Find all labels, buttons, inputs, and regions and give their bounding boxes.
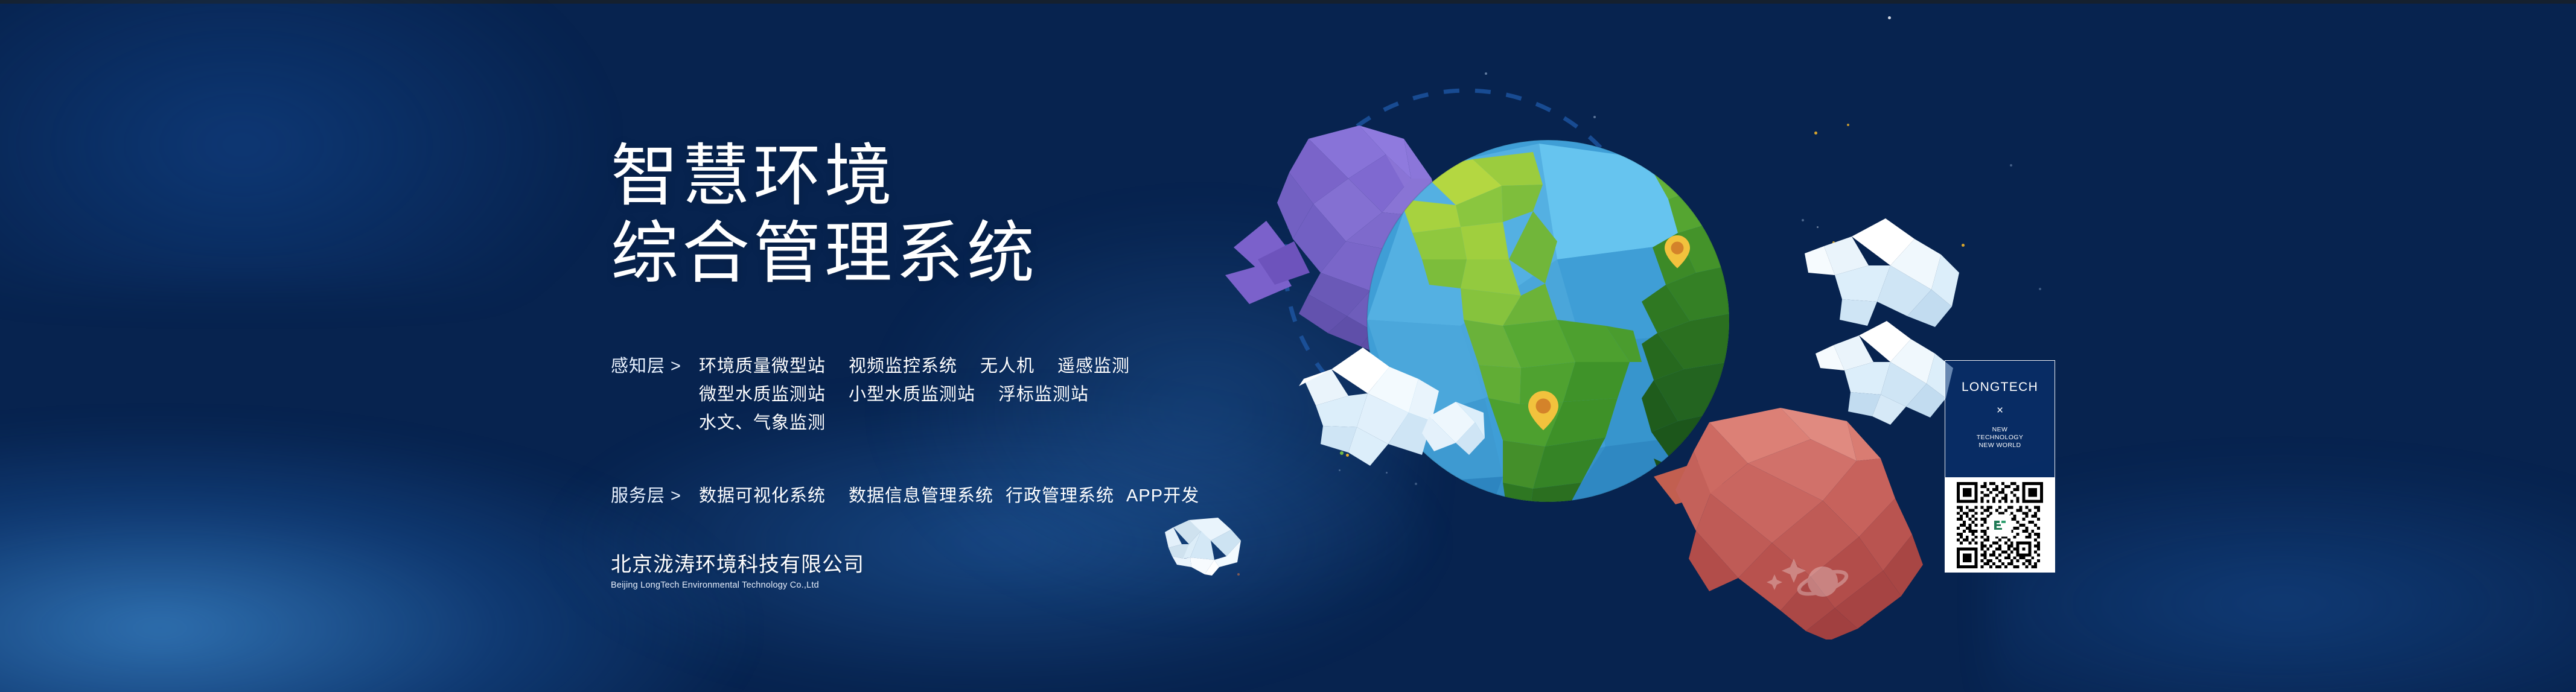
hero-copy: 智慧环境 综合管理系统 感知层 > 环境质量微型站 视频监控系统 无人机 遥感监… [611, 138, 1758, 510]
layer-list: 感知层 > 环境质量微型站 视频监控系统 无人机 遥感监测 微型水质监测站 小型… [611, 352, 1758, 510]
layer-label: 服务层 > [611, 482, 699, 510]
hero-banner: 智慧环境 综合管理系统 感知层 > 环境质量微型站 视频监控系统 无人机 遥感监… [0, 0, 2576, 692]
layer-item[interactable]: APP开发 [1126, 482, 1199, 510]
page-title-line-1: 智慧环境 [611, 138, 1758, 215]
background-haze-top [0, 0, 604, 290]
qr-center-logo [1990, 515, 2010, 536]
qr-promo-card[interactable]: LONGTECH × NEW TECHNOLOGY NEW WORLD [1945, 360, 2055, 573]
cloud-cluster-right-upper [1805, 218, 1959, 327]
company-signature: 北京泷涛环境科技有限公司 Beijing LongTech Environmen… [611, 552, 864, 591]
cloud-cluster-right-lower [1816, 321, 1953, 425]
tagline-line: NEW WORLD [1977, 442, 2024, 449]
tagline-line: NEW [1977, 426, 2024, 434]
tagline-line: TECHNOLOGY [1977, 434, 2024, 442]
qr-code-area[interactable] [1945, 478, 2055, 573]
layer-row-service: 服务层 > 数据可视化系统 数据信息管理系统 行政管理系统 APP开发 [611, 482, 1758, 510]
layer-item-line: 水文、气象监测 [699, 409, 1130, 437]
company-name-cn: 北京泷涛环境科技有限公司 [611, 552, 864, 577]
layer-item[interactable]: 数据信息管理系统 [849, 482, 993, 510]
cloud-detached [1147, 507, 1267, 585]
brand-name: LONGTECH [1962, 380, 2038, 395]
layer-item[interactable]: 无人机 [980, 352, 1035, 381]
page-title-line-2: 综合管理系统 [611, 215, 1758, 292]
layer-item[interactable]: 水文、气象监测 [699, 409, 826, 437]
layer-items: 数据可视化系统 数据信息管理系统 行政管理系统 APP开发 [699, 482, 1211, 510]
top-strip [0, 0, 2576, 4]
layer-item[interactable]: 数据可视化系统 [699, 482, 826, 510]
layer-row-perception: 感知层 > 环境质量微型站 视频监控系统 无人机 遥感监测 微型水质监测站 小型… [611, 352, 1758, 437]
qr-card-slogan: LONGTECH × NEW TECHNOLOGY NEW WORLD [1945, 360, 2055, 478]
company-name-en: Beijing LongTech Environmental Technolog… [611, 579, 864, 591]
layer-item[interactable]: 遥感监测 [1057, 352, 1130, 381]
tagline: NEW TECHNOLOGY NEW WORLD [1977, 426, 2024, 449]
background-haze-right [1992, 459, 2576, 692]
layer-item[interactable]: 浮标监测站 [998, 381, 1089, 409]
qr-code-icon[interactable] [1957, 482, 2043, 568]
cross-icon: × [1997, 404, 2003, 417]
layer-item[interactable]: 视频监控系统 [849, 352, 957, 381]
layer-item[interactable]: 小型水质监测站 [849, 381, 975, 409]
layer-item[interactable]: 环境质量微型站 [699, 352, 826, 381]
layer-item-line: 环境质量微型站 视频监控系统 无人机 遥感监测 [699, 352, 1130, 381]
layer-item[interactable]: 微型水质监测站 [699, 381, 826, 409]
layer-label: 感知层 > [611, 352, 699, 381]
layer-item-line: 微型水质监测站 小型水质监测站 浮标监测站 [699, 381, 1130, 409]
layer-item-line: 数据可视化系统 数据信息管理系统 行政管理系统 APP开发 [699, 482, 1211, 510]
layer-items: 环境质量微型站 视频监控系统 无人机 遥感监测 微型水质监测站 小型水质监测站 … [699, 352, 1130, 437]
layer-item[interactable]: 行政管理系统 [1006, 482, 1114, 510]
